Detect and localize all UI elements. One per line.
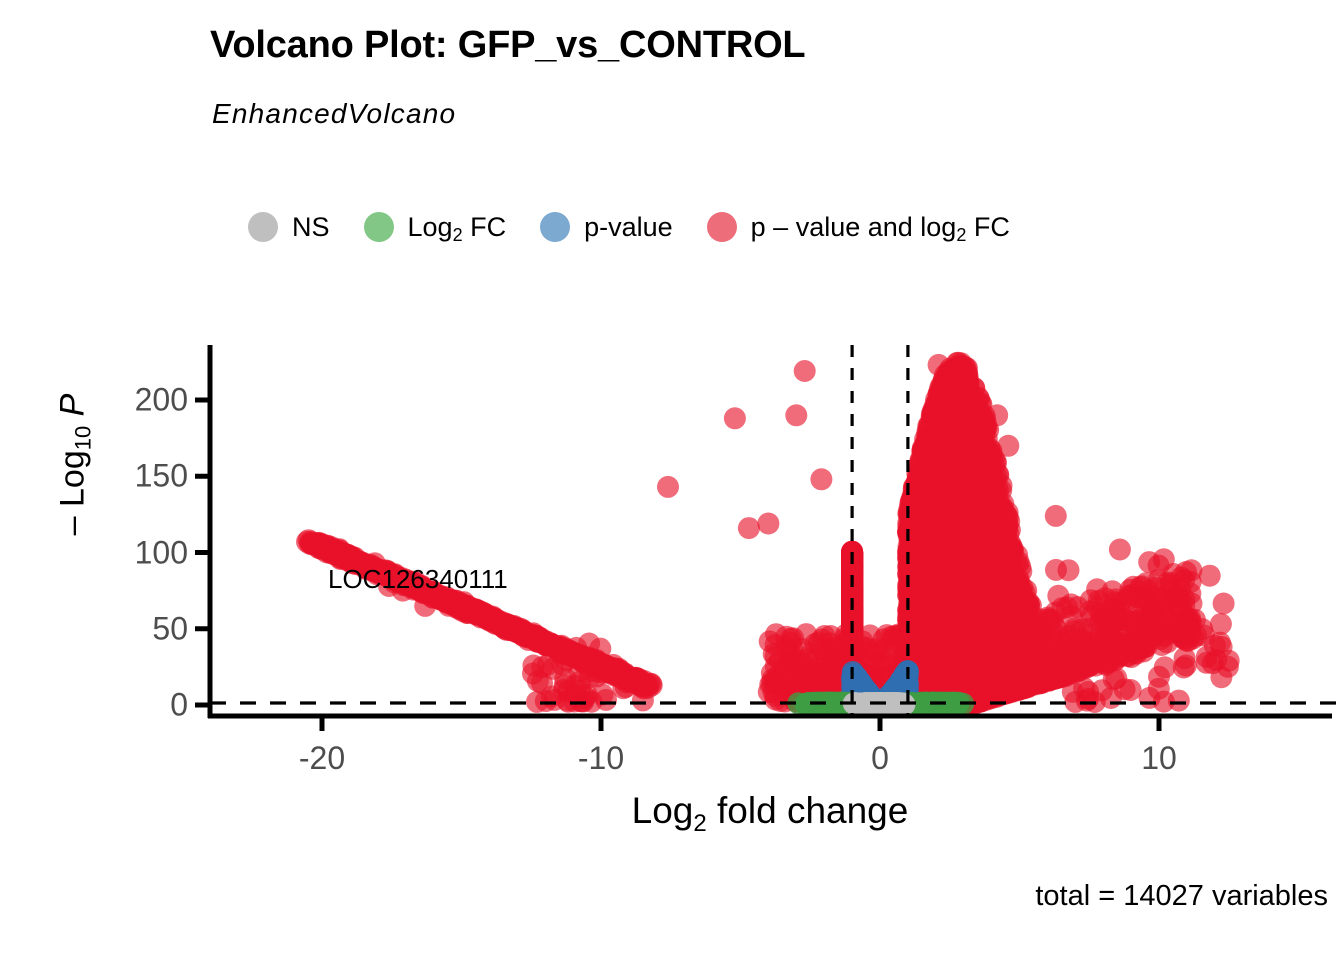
volcano-plot: Volcano Plot: GFP_vs_CONTROL EnhancedVol… (0, 0, 1344, 960)
series-pvalue-and-log2fc (296, 352, 1240, 714)
plot-canvas (0, 0, 1344, 960)
gene-label: LOC126340111 (328, 564, 508, 595)
points-layer (296, 352, 1240, 716)
